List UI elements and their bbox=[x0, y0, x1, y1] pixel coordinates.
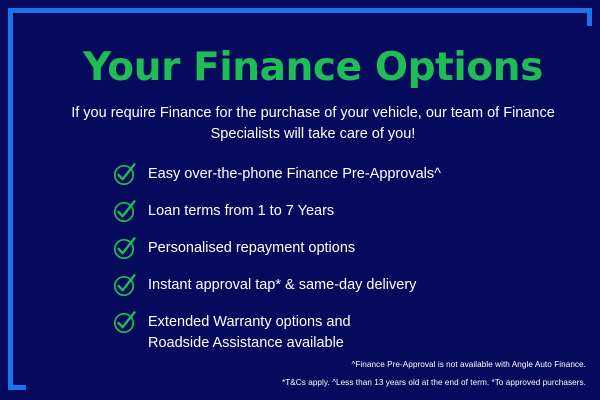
check-circle-icon bbox=[113, 236, 148, 260]
check-circle-icon bbox=[113, 273, 148, 297]
card-content-panel: Your Finance Options If you require Fina… bbox=[26, 26, 600, 398]
list-item-label: Easy over-the-phone Finance Pre-Approval… bbox=[148, 162, 441, 185]
subtitle-text: If you require Finance for the purchase … bbox=[26, 87, 600, 145]
disclaimer-line: *T&Cs apply. ^Less than 13 years old at … bbox=[106, 378, 586, 388]
finance-options-promo-card: Your Finance Options If you require Fina… bbox=[0, 0, 600, 400]
list-item: Loan terms from 1 to 7 Years bbox=[26, 199, 600, 223]
list-item: Instant approval tap* & same-day deliver… bbox=[26, 273, 600, 297]
list-item: Personalised repayment options bbox=[26, 236, 600, 260]
list-item-label: Personalised repayment options bbox=[148, 236, 355, 259]
check-circle-icon bbox=[113, 162, 148, 186]
list-item: Extended Warranty options and Roadside A… bbox=[26, 310, 600, 353]
check-circle-icon bbox=[113, 199, 148, 223]
list-item: Easy over-the-phone Finance Pre-Approval… bbox=[26, 162, 600, 186]
list-item-label: Instant approval tap* & same-day deliver… bbox=[148, 273, 416, 296]
page-title: Your Finance Options bbox=[26, 26, 600, 87]
disclaimer-line: ^Finance Pre-Approval is not available w… bbox=[106, 360, 586, 370]
card-blue-border: Your Finance Options If you require Fina… bbox=[8, 8, 592, 390]
list-item-label: Extended Warranty options and Roadside A… bbox=[148, 310, 413, 353]
check-circle-icon bbox=[113, 310, 148, 334]
disclaimer-block: ^Finance Pre-Approval is not available w… bbox=[106, 360, 586, 389]
benefits-list: Easy over-the-phone Finance Pre-Approval… bbox=[26, 145, 600, 353]
list-item-label: Loan terms from 1 to 7 Years bbox=[148, 199, 334, 222]
